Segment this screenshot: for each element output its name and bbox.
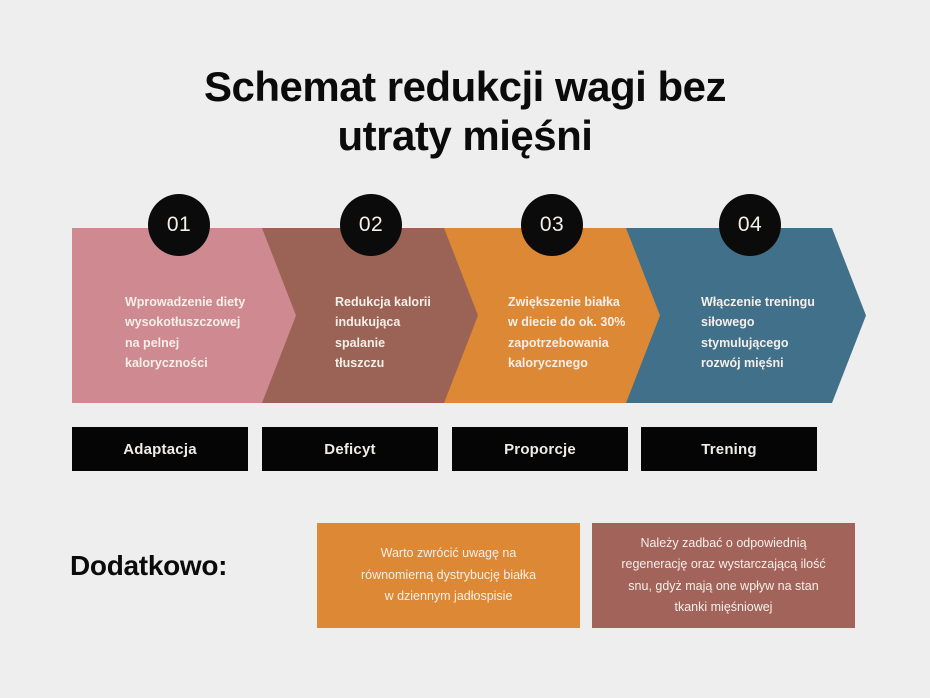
extra-section-heading: Dodatkowo: [70,550,227,582]
step-label-bar-2[interactable]: Deficyt [262,427,438,471]
process-step-text-2: Redukcja kalorii indukująca spalanie tłu… [335,292,431,373]
step-number-badge-2: 02 [340,194,402,256]
step-number-badge-3: 03 [521,194,583,256]
step-number-badge-1: 01 [148,194,210,256]
step-label-bar-3[interactable]: Proporcje [452,427,628,471]
page-title: Schemat redukcji wagi bez utraty mięśni [0,62,930,160]
infographic-canvas: Schemat redukcji wagi bez utraty mięśni … [0,0,930,698]
step-number-badge-4: 04 [719,194,781,256]
extra-note-1: Warto zwrócić uwagę na równomierną dystr… [317,523,580,628]
process-step-text-3: Zwiększenie białka w diecie do ok. 30% z… [508,292,625,373]
step-label-bar-1[interactable]: Adaptacja [72,427,248,471]
step-label-bar-4[interactable]: Trening [641,427,817,471]
process-chevron-band: Wprowadzenie diety wysokotłuszczowej na … [0,228,930,403]
process-step-text-1: Wprowadzenie diety wysokotłuszczowej na … [125,292,245,373]
process-step-text-4: Włączenie treningu siłowego stymulująceg… [701,292,815,373]
extra-note-2: Należy zadbać o odpowiednią regenerację … [592,523,855,628]
